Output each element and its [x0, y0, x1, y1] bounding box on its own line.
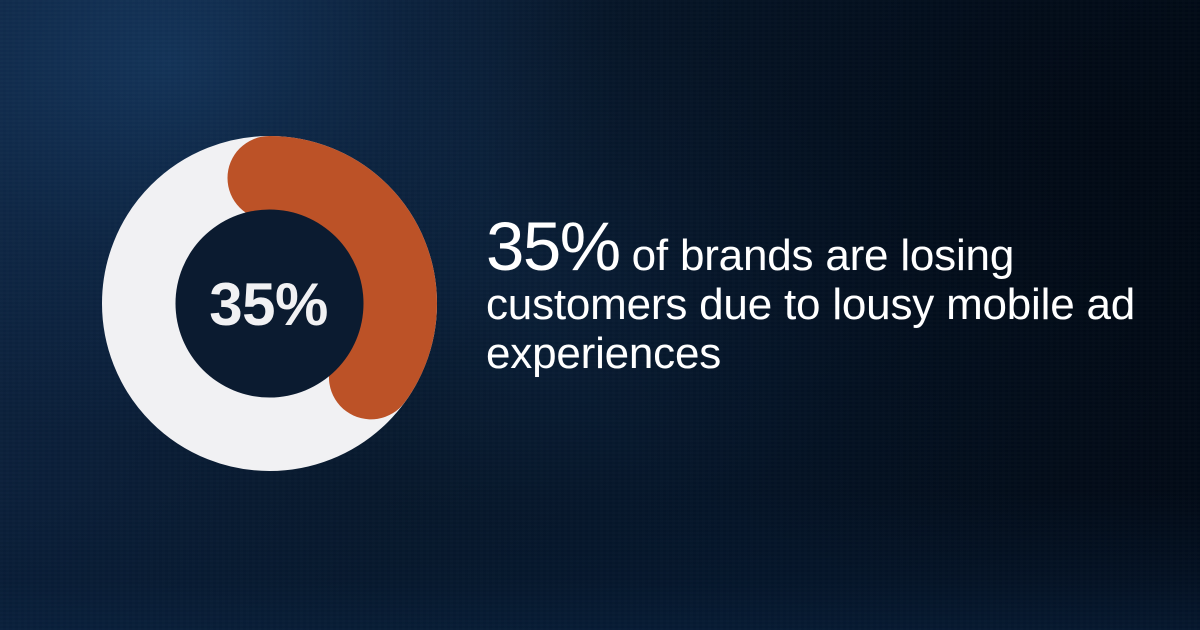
stat-card-canvas: 35% 35% of brands are losing customers d… — [0, 0, 1200, 630]
headline-block: 35% of brands are losing customers due t… — [486, 222, 1146, 378]
donut-hole — [176, 210, 364, 398]
headline-stat: 35% — [486, 208, 620, 285]
donut-chart-svg — [102, 136, 437, 471]
headline-text: 35% of brands are losing customers due t… — [486, 222, 1146, 378]
donut-chart: 35% — [102, 136, 437, 471]
